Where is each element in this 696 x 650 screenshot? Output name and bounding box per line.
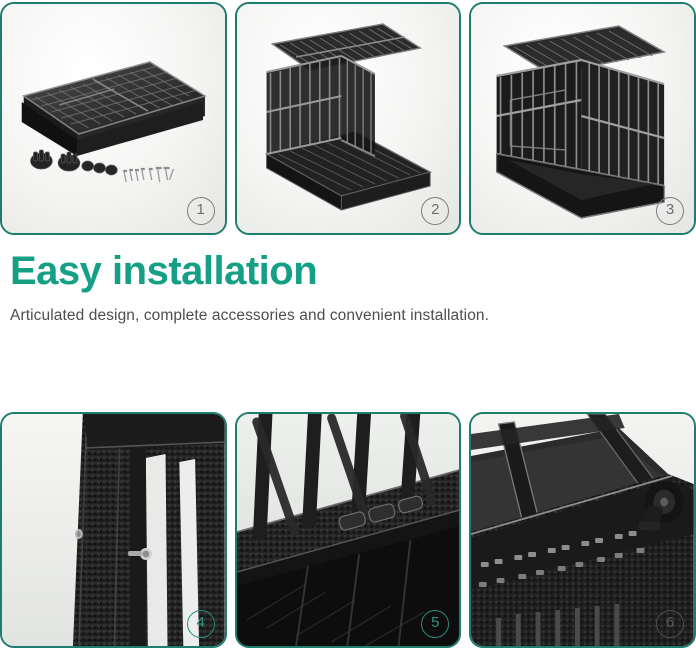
step-panel-5: 5	[235, 412, 462, 648]
step-number-badge: 4	[187, 610, 215, 638]
step-number-badge: 6	[656, 610, 684, 638]
step-number-badge: 1	[187, 197, 215, 225]
frame-texture-closeup-illustration	[2, 414, 225, 646]
step-photo-4	[2, 414, 225, 646]
slide-out-tray-and-caster-illustration	[471, 414, 694, 646]
page-title: Easy installation	[10, 250, 690, 293]
step-photo-1	[2, 4, 225, 233]
step-panel-2: 2	[235, 2, 462, 235]
hinge-joint-closeup-illustration	[237, 414, 460, 646]
step-photo-3	[471, 4, 694, 233]
step-number-badge: 3	[656, 197, 684, 225]
assembled-crate-illustration	[471, 4, 694, 233]
text-block: Easy installation Articulated design, co…	[10, 250, 690, 325]
steps-row-top: 1	[0, 2, 696, 235]
steps-row-bottom: 4	[0, 412, 696, 648]
step-photo-5	[237, 414, 460, 646]
flat-pack-crate-illustration	[2, 4, 225, 233]
step-panel-6: 6	[469, 412, 696, 648]
page-subtitle: Articulated design, complete accessories…	[10, 307, 690, 325]
step-panel-1: 1	[0, 2, 227, 235]
infographic-board: 1	[0, 0, 696, 650]
step-panel-4: 4	[0, 412, 227, 648]
step-panel-3: 3	[469, 2, 696, 235]
step-photo-6	[471, 414, 694, 646]
